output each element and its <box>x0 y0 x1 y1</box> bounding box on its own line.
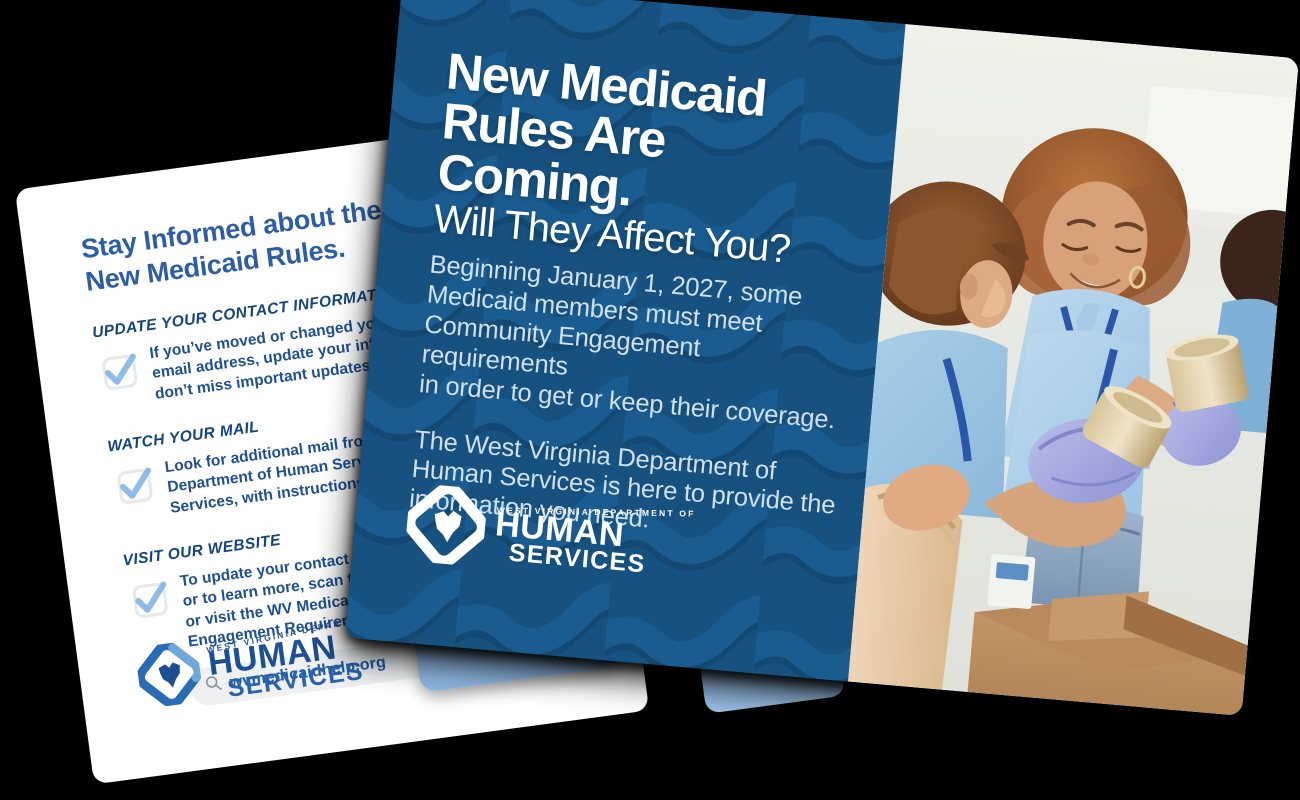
food-bank-volunteers-photo <box>848 24 1299 716</box>
blue-card-text-pane: New Medicaid Rules Are Coming. Will They… <box>345 0 906 682</box>
checkmark-icon <box>110 461 159 510</box>
checkmark-icon <box>126 575 175 624</box>
checkmark-icon <box>95 348 144 397</box>
logo-wordmark: WEST VIRGINIA DEPARTMENT OF HUMAN SERVIC… <box>492 499 696 582</box>
blue-card-paragraph-1: Beginning January 1, 2027, some Medicaid… <box>418 251 856 437</box>
blue-mailer-card[interactable]: New Medicaid Rules Are Coming. Will They… <box>345 0 1299 716</box>
wv-state-diamond-logo-mark <box>403 483 488 572</box>
mockup-stage: Stay Informed about the New Medicaid Rul… <box>0 0 1300 800</box>
wv-state-diamond-logo-mark <box>134 640 204 715</box>
